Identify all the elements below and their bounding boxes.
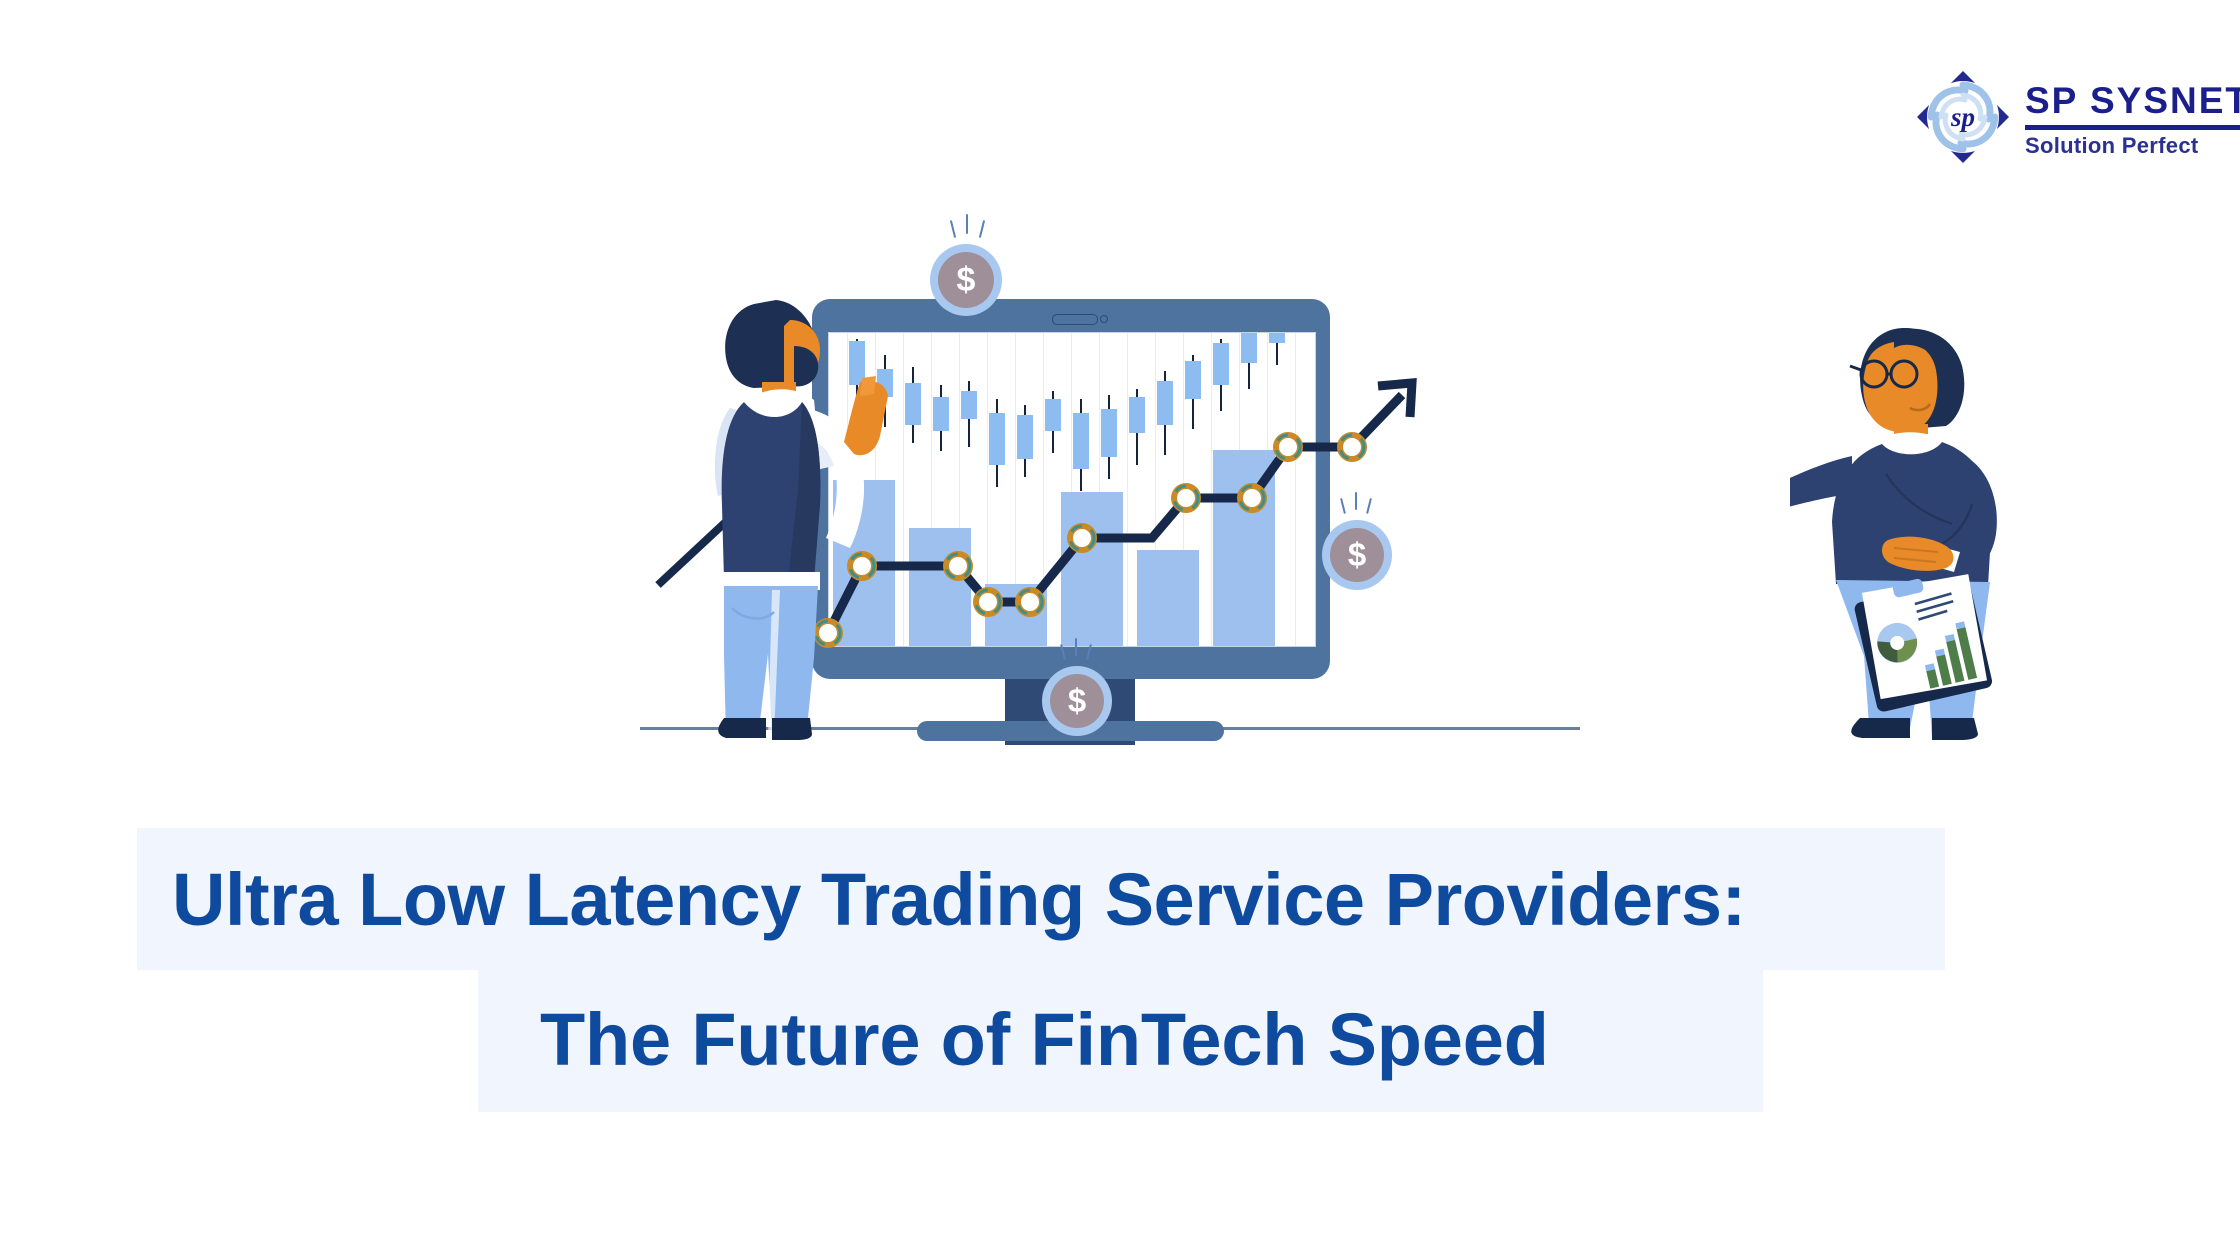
page-title-line-1: Ultra Low Latency Trading Service Provid…: [172, 848, 1746, 952]
clipboard-report: [1858, 578, 1998, 713]
logo-brand-name: SP SYSNET: [2025, 82, 2240, 119]
logo-wordmark: SP SYSNET Solution Perfect: [2025, 78, 2240, 157]
svg-text:sp: sp: [1950, 102, 1975, 132]
fintech-trading-illustration: $ $ $: [600, 180, 1620, 740]
logo-divider: [2025, 125, 2240, 130]
sp-sysnet-logo[interactable]: sp SP SYSNET Solution Perfect: [1915, 62, 2215, 172]
analyst-left: [710, 290, 970, 740]
poster-canvas: sp SP SYSNET Solution Perfect: [0, 0, 2240, 1260]
logo-mark-icon: sp: [1915, 69, 2011, 165]
page-title-line-2: The Future of FinTech Speed: [540, 988, 1549, 1092]
logo-tagline: Solution Perfect: [2025, 135, 2240, 157]
